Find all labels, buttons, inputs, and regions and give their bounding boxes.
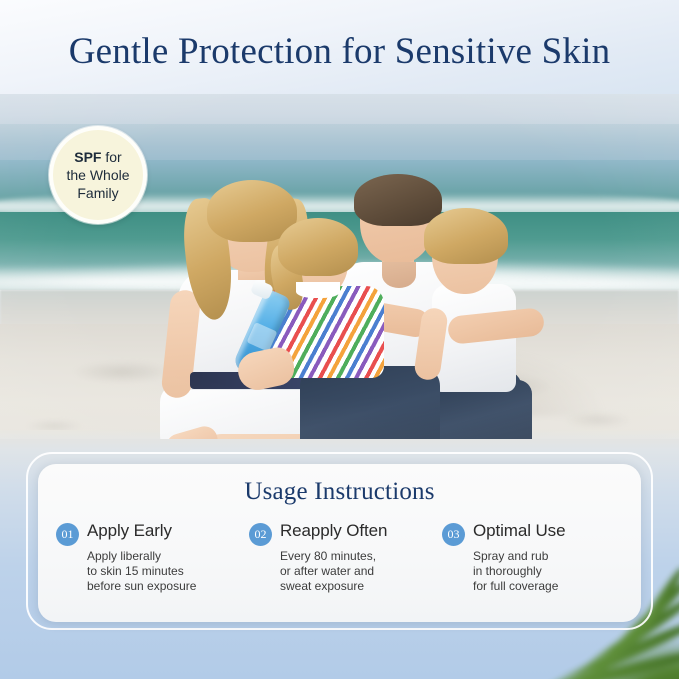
- father-hair: [354, 174, 442, 226]
- instruction-card: Usage Instructions 01 Apply Early Apply …: [38, 464, 641, 622]
- son-hair: [424, 208, 508, 264]
- step-header: 03 Optimal Use: [442, 520, 627, 546]
- product-banner-page: Gentle Protection for Sensitive Skin: [0, 0, 679, 679]
- step-title: Apply Early: [87, 520, 172, 542]
- spf-badge-line3: Family: [77, 185, 118, 201]
- spf-badge-line2: the Whole: [66, 167, 129, 183]
- step-body: Apply liberally to skin 15 minutes befor…: [87, 549, 241, 594]
- step-number-badge: 01: [56, 523, 79, 546]
- step-header: 02 Reapply Often: [249, 520, 434, 546]
- spf-badge-line1-bold: SPF: [74, 149, 101, 165]
- instruction-steps: 01 Apply Early Apply liberally to skin 1…: [56, 520, 627, 594]
- step-body: Spray and rub in thoroughly for full cov…: [473, 549, 627, 594]
- spf-badge-line1-rest: for: [101, 149, 121, 165]
- instruction-step-01: 01 Apply Early Apply liberally to skin 1…: [56, 520, 241, 594]
- daughter-hair: [278, 218, 358, 276]
- step-body-line: Spray and rub: [473, 549, 627, 564]
- step-body-line: sweat exposure: [280, 579, 434, 594]
- step-body-line: or after water and: [280, 564, 434, 579]
- father-vneck: [382, 262, 416, 288]
- daughter-collar: [296, 282, 340, 298]
- instruction-step-03: 03 Optimal Use Spray and rub in thorough…: [442, 520, 627, 594]
- step-body-line: in thoroughly: [473, 564, 627, 579]
- header-banner: Gentle Protection for Sensitive Skin: [0, 0, 679, 94]
- spf-badge: SPF for the Whole Family: [49, 126, 147, 224]
- step-body-line: before sun exposure: [87, 579, 241, 594]
- spf-badge-text: SPF for the Whole Family: [60, 148, 135, 202]
- step-number-badge: 03: [442, 523, 465, 546]
- page-title: Gentle Protection for Sensitive Skin: [0, 30, 679, 74]
- step-title: Reapply Often: [280, 520, 387, 542]
- step-header: 01 Apply Early: [56, 520, 241, 546]
- instruction-card-title: Usage Instructions: [38, 478, 641, 506]
- step-title: Optimal Use: [473, 520, 565, 542]
- step-body-line: for full coverage: [473, 579, 627, 594]
- step-body-line: Every 80 minutes,: [280, 549, 434, 564]
- step-number-badge: 02: [249, 523, 272, 546]
- step-body: Every 80 minutes, or after water and swe…: [280, 549, 434, 594]
- instruction-step-02: 02 Reapply Often Every 80 minutes, or af…: [249, 520, 434, 594]
- step-body-line: to skin 15 minutes: [87, 564, 241, 579]
- step-body-line: Apply liberally: [87, 549, 241, 564]
